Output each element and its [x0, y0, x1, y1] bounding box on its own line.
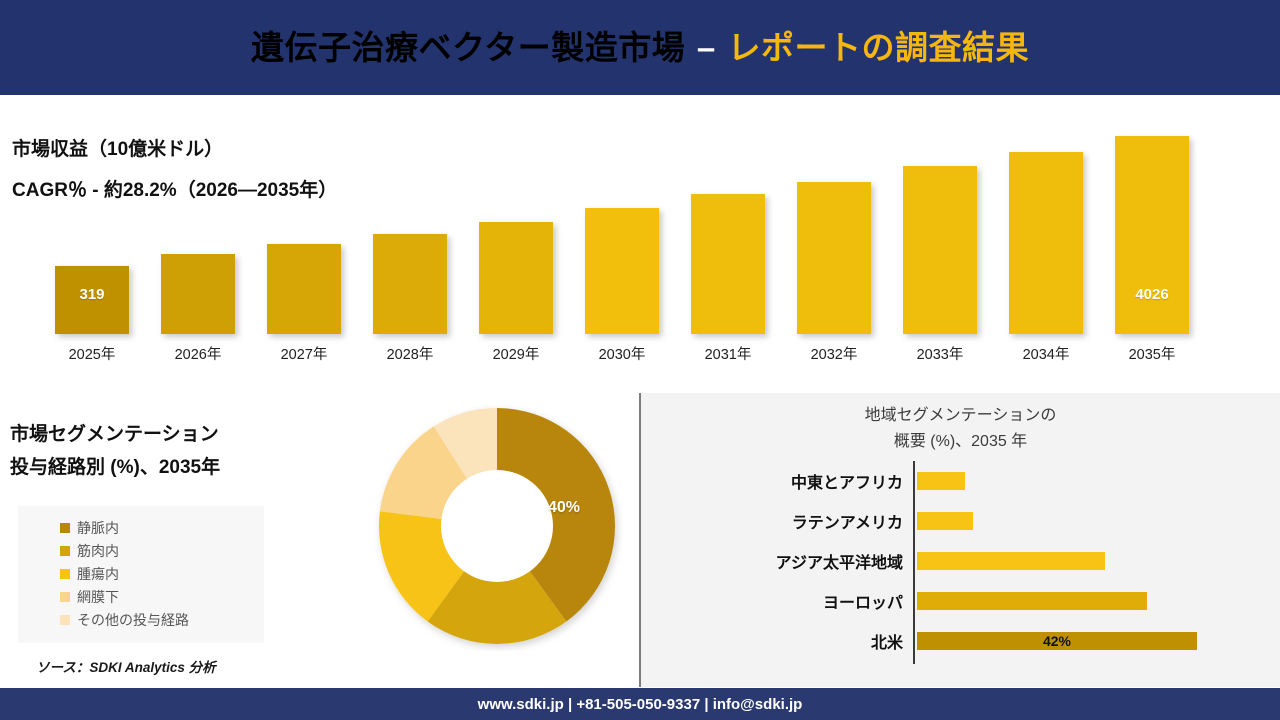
region-bar-row: ラテンアメリカ — [641, 501, 1280, 541]
revenue-bar — [479, 222, 553, 334]
segmentation-panel: 市場セグメンテーション 投与経路別 (%)、2035年 静脈内筋肉内腫瘍内網膜下… — [0, 393, 639, 687]
region-title-line2: 概要 (%)、2035 年 — [641, 429, 1280, 455]
revenue-bars-area: 2025年3192026年2027年2028年2029年2030年2031年20… — [55, 106, 1230, 372]
region-bar-chart: 中東とアフリカラテンアメリカアジア太平洋地域ヨーロッパ北米42% — [641, 461, 1280, 676]
legend-swatch-icon — [60, 546, 70, 556]
revenue-bar-column — [903, 166, 977, 334]
region-bar — [917, 552, 1105, 570]
header-band: 遺伝子治療ベクター製造市場 – レポートの調査結果 — [0, 0, 1280, 95]
page-title-accent: レポートの調査結果 — [727, 29, 1029, 66]
legend-item: 筋肉内 — [18, 539, 264, 562]
region-bar-label: 北米 — [641, 629, 915, 653]
revenue-bar-column: 4026 — [1115, 136, 1189, 334]
revenue-bar-xlabel: 2035年 — [1104, 343, 1200, 364]
region-bar — [917, 472, 965, 490]
revenue-bar-column — [267, 244, 341, 334]
region-bar-row: アジア太平洋地域 — [641, 541, 1280, 581]
legend-swatch-icon — [60, 569, 70, 579]
footer-band: www.sdki.jp | +81-505-050-9337 | info@sd… — [0, 688, 1280, 720]
revenue-bar — [903, 166, 977, 334]
legend-item-label: その他の投与経路 — [77, 610, 189, 630]
legend-item: 静脈内 — [18, 516, 264, 539]
region-bar-row: 北米42% — [641, 621, 1280, 661]
revenue-bar-column — [585, 208, 659, 334]
revenue-bar — [267, 244, 341, 334]
donut-legend: 静脈内筋肉内腫瘍内網膜下その他の投与経路 — [18, 506, 264, 643]
legend-item-label: 腫瘍内 — [77, 564, 119, 584]
legend-item-label: 網膜下 — [77, 587, 119, 607]
legend-item-label: 筋肉内 — [77, 541, 119, 561]
revenue-bar-xlabel: 2033年 — [892, 343, 988, 364]
revenue-bar-value: 319 — [55, 286, 129, 303]
revenue-bar-column — [797, 182, 871, 334]
region-bar-label: アジア太平洋地域 — [641, 549, 915, 573]
revenue-bar — [585, 208, 659, 334]
revenue-bar: 4026 — [1115, 136, 1189, 334]
legend-item: 腫瘍内 — [18, 562, 264, 585]
revenue-bar-column — [161, 254, 235, 334]
bottom-section: 市場セグメンテーション 投与経路別 (%)、2035年 静脈内筋肉内腫瘍内網膜下… — [0, 393, 1280, 687]
region-panel: 地域セグメンテーションの 概要 (%)、2035 年 中東とアフリカラテンアメリ… — [641, 393, 1280, 687]
revenue-bar: 319 — [55, 266, 129, 334]
legend-item: 網膜下 — [18, 585, 264, 608]
revenue-bar — [691, 194, 765, 334]
legend-swatch-icon — [60, 615, 70, 625]
revenue-bar-xlabel: 2025年 — [44, 343, 140, 364]
donut-chart: 40% — [372, 401, 622, 651]
page-title-dash: – — [685, 29, 727, 66]
revenue-chart-section: 市場収益（10億米ドル） CAGR％ - 約28.2%（2026―2035年） … — [0, 96, 1280, 392]
region-bar-label: 中東とアフリカ — [641, 469, 915, 493]
region-bar-label: ラテンアメリカ — [641, 509, 915, 533]
segmentation-title-line1: 市場セグメンテーション — [10, 418, 220, 451]
revenue-bar-column — [373, 234, 447, 334]
legend-item: その他の投与経路 — [18, 608, 264, 631]
revenue-bar — [161, 254, 235, 334]
region-bar — [917, 592, 1147, 610]
region-bar-label: ヨーロッパ — [641, 589, 915, 613]
revenue-bar-column — [691, 194, 765, 334]
revenue-bar-column — [1009, 152, 1083, 334]
region-bar-row: 中東とアフリカ — [641, 461, 1280, 501]
footer-contact: www.sdki.jp | +81-505-050-9337 | info@sd… — [478, 696, 803, 713]
revenue-bar-column — [479, 222, 553, 334]
region-bar — [917, 512, 973, 530]
segmentation-title-line2: 投与経路別 (%)、2035年 — [10, 451, 220, 484]
revenue-bar-xlabel: 2028年 — [362, 343, 458, 364]
source-note: ソース：SDKI Analytics 分析 — [36, 656, 216, 676]
donut-hole — [441, 470, 553, 582]
revenue-bar-value: 4026 — [1115, 286, 1189, 303]
revenue-bar-column: 319 — [55, 266, 129, 334]
infographic-page: 遺伝子治療ベクター製造市場 – レポートの調査結果 市場収益（10億米ドル） C… — [0, 0, 1280, 720]
revenue-bar-xlabel: 2034年 — [998, 343, 1094, 364]
segmentation-title: 市場セグメンテーション 投与経路別 (%)、2035年 — [10, 418, 220, 484]
donut-center-value: 40% — [548, 499, 580, 517]
revenue-bar — [1009, 152, 1083, 334]
revenue-bar-xlabel: 2029年 — [468, 343, 564, 364]
revenue-bar — [373, 234, 447, 334]
revenue-bar-xlabel: 2032年 — [786, 343, 882, 364]
revenue-bar-xlabel: 2030年 — [574, 343, 670, 364]
donut-chart-svg — [372, 401, 622, 651]
revenue-bar-xlabel: 2026年 — [150, 343, 246, 364]
revenue-bar — [797, 182, 871, 334]
legend-item-label: 静脈内 — [77, 518, 119, 538]
page-title-main: 遺伝子治療ベクター製造市場 — [251, 29, 685, 66]
page-title: 遺伝子治療ベクター製造市場 – レポートの調査結果 — [251, 31, 1029, 64]
legend-swatch-icon — [60, 523, 70, 533]
region-bar: 42% — [917, 632, 1197, 650]
region-title: 地域セグメンテーションの 概要 (%)、2035 年 — [641, 403, 1280, 455]
region-bar-row: ヨーロッパ — [641, 581, 1280, 621]
region-bar-value: 42% — [917, 633, 1197, 649]
revenue-bar-xlabel: 2027年 — [256, 343, 352, 364]
region-title-line1: 地域セグメンテーションの — [641, 403, 1280, 429]
legend-swatch-icon — [60, 592, 70, 602]
revenue-bar-xlabel: 2031年 — [680, 343, 776, 364]
